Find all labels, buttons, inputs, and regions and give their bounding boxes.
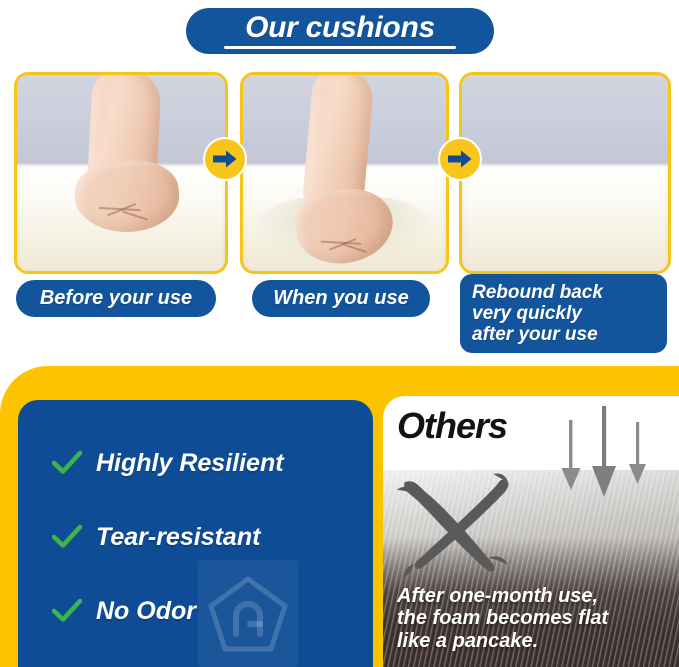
page-title: Our cushions	[245, 13, 435, 43]
caption-after-line-1: Rebound back	[472, 282, 603, 303]
step-panel-group	[0, 72, 679, 268]
others-card: Others	[383, 396, 679, 667]
knuckle-line	[122, 211, 148, 221]
photo-before	[17, 75, 225, 271]
check-icon	[52, 524, 82, 550]
feature-item-highly-resilient: Highly Resilient	[52, 434, 363, 492]
step-panel-before	[14, 72, 228, 274]
title-underline	[224, 46, 456, 49]
caption-during: When you use	[252, 280, 430, 317]
photo-background-wall	[462, 75, 668, 167]
others-caption-line-3: like a pancake.	[397, 630, 669, 653]
others-caption-line-2: the foam becomes flat	[397, 607, 669, 630]
photo-after	[462, 75, 668, 271]
photo-during	[243, 75, 446, 271]
feature-label: No Odor	[96, 597, 196, 626]
foam-top-edge	[462, 163, 668, 166]
foam-slab	[462, 163, 668, 271]
step-panel-during	[240, 72, 449, 274]
caption-after: Rebound back very quickly after your use	[460, 274, 667, 353]
features-card: Highly Resilient Tear-resistant No Odor	[18, 400, 373, 667]
check-icon	[52, 450, 82, 476]
arrow-right-icon	[205, 139, 245, 179]
others-caption: After one-month use, the foam becomes fl…	[397, 585, 669, 653]
feature-list: Highly Resilient Tear-resistant No Odor	[52, 434, 363, 656]
caption-after-line-3: after your use	[472, 324, 598, 345]
feature-item-tear-resistant: Tear-resistant	[52, 508, 363, 566]
others-caption-line-1: After one-month use,	[397, 585, 669, 608]
caption-after-line-2: very quickly	[472, 303, 582, 324]
feature-item-no-odor: No Odor	[52, 582, 363, 640]
feature-label: Highly Resilient	[96, 449, 284, 478]
knuckle-line	[342, 243, 367, 253]
page-title-banner: Our cushions	[186, 8, 494, 54]
feature-label: Tear-resistant	[96, 523, 260, 552]
caption-before: Before your use	[16, 280, 216, 317]
check-icon	[52, 598, 82, 624]
step-panel-after	[459, 72, 671, 274]
x-mark-icon	[389, 468, 519, 580]
infographic-page: Our cushions	[0, 0, 679, 667]
pressure-arrow-group	[551, 404, 661, 508]
arrow-right-icon	[440, 139, 480, 179]
others-title: Others	[397, 408, 507, 444]
